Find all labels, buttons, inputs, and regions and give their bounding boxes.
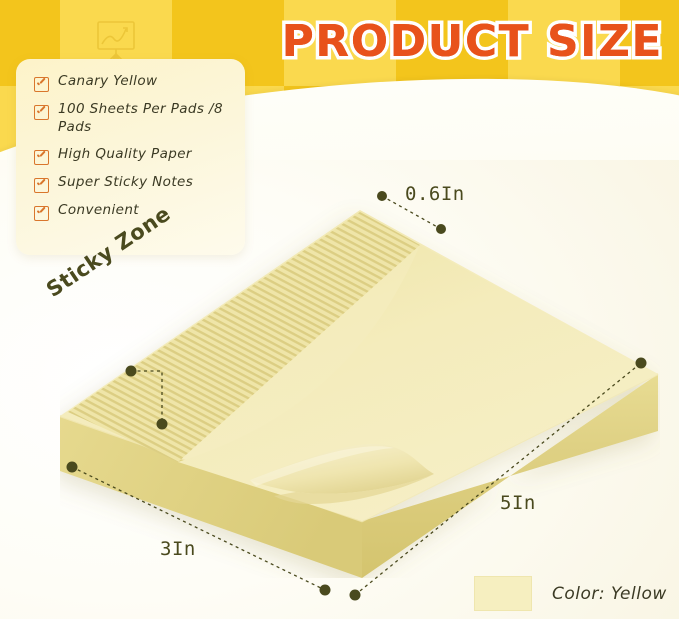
checkbox-checked-icon <box>34 105 49 120</box>
feature-label: Canary Yellow <box>58 73 157 91</box>
list-item: 100 Sheets Per Pads /8 Pads <box>34 101 235 137</box>
checkbox-checked-icon <box>34 150 49 165</box>
color-legend-label: Color: Yellow <box>552 584 667 604</box>
infographic-canvas: PRODUCT SIZE PRODUCT SIZE Canary Yellow … <box>0 0 679 619</box>
dimension-label-width: 3In <box>160 538 196 560</box>
color-swatch <box>474 576 532 611</box>
color-legend: Color: Yellow <box>474 576 667 611</box>
feature-label: High Quality Paper <box>58 146 192 164</box>
feature-label: 100 Sheets Per Pads /8 Pads <box>58 101 235 137</box>
checkbox-checked-icon <box>34 206 49 221</box>
page-title: PRODUCT SIZE <box>282 16 663 67</box>
sticky-note-pad-illustration <box>60 188 660 578</box>
dimension-label-thickness: 0.6In <box>405 183 465 205</box>
list-item: High Quality Paper <box>34 146 235 165</box>
dimension-label-length: 5In <box>500 492 536 514</box>
checkbox-checked-icon <box>34 178 49 193</box>
checkbox-checked-icon <box>34 77 49 92</box>
list-item: Canary Yellow <box>34 73 235 92</box>
